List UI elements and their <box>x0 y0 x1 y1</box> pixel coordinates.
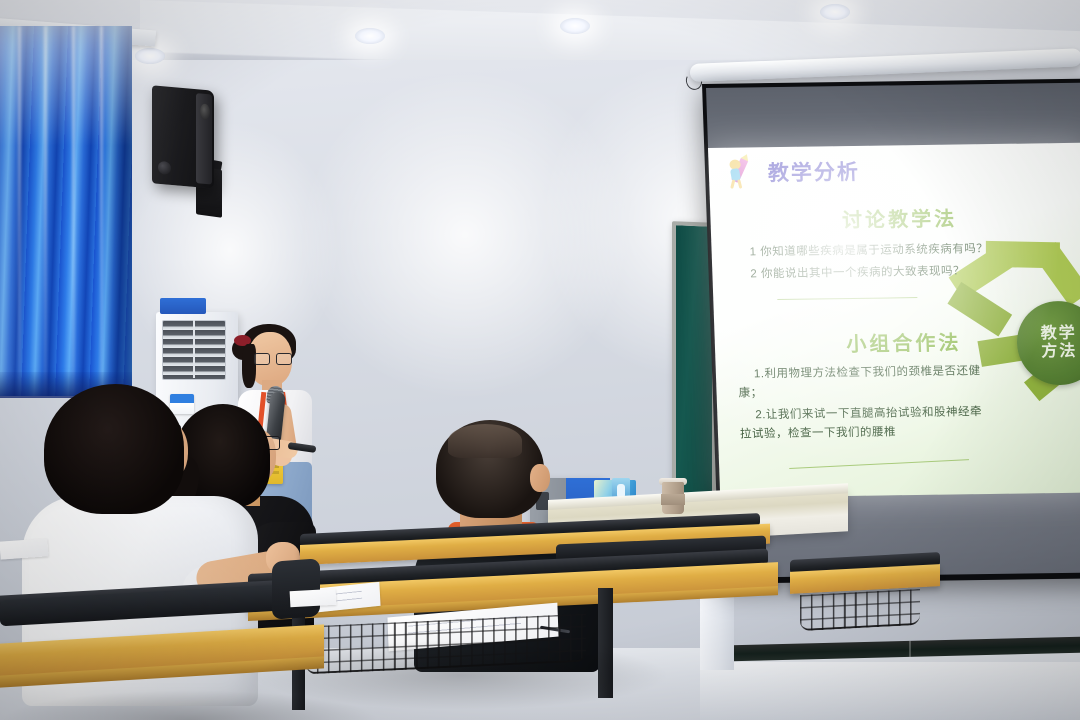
curtain-fold <box>18 26 21 396</box>
ceiling-downlight <box>355 28 385 44</box>
ceiling-downlight <box>820 4 850 20</box>
paper-sheet <box>290 589 337 607</box>
desk-leg <box>598 588 613 698</box>
slide-divider <box>789 459 969 469</box>
speaker-icon <box>152 85 214 188</box>
slide-s1-item-2: 2 你能说出其中一个疾病的大致表现吗？ <box>734 262 995 285</box>
ac-top-panel <box>160 298 206 314</box>
slide-section-1-heading: 讨论教学法 <box>710 201 1080 235</box>
slide-section-1-body: 1 你知道哪些疾病是属于运动系统疾病有吗？ 2 你能说出其中一个疾病的大致表现吗… <box>733 240 995 288</box>
speaker-tweeter <box>200 103 210 120</box>
curtain-fold <box>72 26 75 396</box>
ceiling-downlight <box>135 48 165 64</box>
desk-basket <box>800 589 920 631</box>
curtain-fold <box>44 26 47 396</box>
curtain-fold <box>100 26 103 396</box>
floor-reflection <box>700 662 1080 720</box>
glasses-icon <box>254 353 292 364</box>
slide-header: 教学分析 <box>726 154 860 190</box>
slide-s2-item-1: 1.利用物理方法检查下我们的颈椎是否还健康； <box>738 362 991 403</box>
slide-s1-item-1: 1 你知道哪些疾病是属于运动系统疾病有吗？ <box>733 240 994 263</box>
paper-sheet <box>0 538 49 559</box>
slide-divider <box>777 297 917 300</box>
classroom-scene: 教学分析 教学 方法 讨论教学法 1 你知道哪些疾病是属于运动系统疾病有吗？ 2… <box>0 0 1080 720</box>
speaker-woofer <box>158 161 171 175</box>
ac-grille-divider <box>193 320 195 378</box>
cup-sleeve <box>661 494 685 505</box>
slide-content: 教学分析 教学 方法 讨论教学法 1 你知道哪些疾病是属于运动系统疾病有吗？ 2… <box>708 143 1080 498</box>
pencil-mascot-icon <box>726 155 761 189</box>
slide-section-2-heading: 小组合作法 <box>714 325 1080 359</box>
slide-s2-item-2: 2.让我们来试一下直腿高抬试验和股神经牵拉试验，检查一下我们的腰椎 <box>739 403 992 444</box>
slide-section-2-body: 1.利用物理方法检查下我们的颈椎是否还健康； 2.让我们来试一下直腿高抬试验和股… <box>738 362 993 447</box>
slide-header-title: 教学分析 <box>767 156 860 187</box>
ceiling-downlight <box>560 18 590 34</box>
